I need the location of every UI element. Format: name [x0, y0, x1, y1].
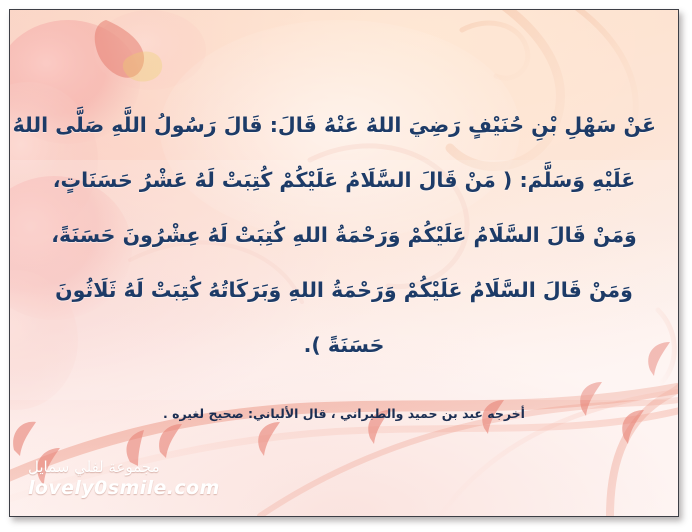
hadith-text-block: عَنْ سَهْلِ بْنِ حُنَيْفٍ رَضِيَ اللهُ ع… — [32, 98, 656, 373]
image-card-frame: عَنْ سَهْلِ بْنِ حُنَيْفٍ رَضِيَ اللهُ ع… — [0, 0, 692, 532]
hadith-line-4: وَمَنْ قَالَ السَّلَامُ عَلَيْكُمْ وَرَح… — [32, 263, 656, 318]
hadith-line-5: حَسَنَةً ). — [32, 318, 656, 373]
watermark-arabic-label: مجموعة لفلي سمايل — [28, 457, 220, 477]
hadith-line-3: وَمَنْ قَالَ السَّلَامُ عَلَيْكُمْ وَرَح… — [32, 208, 656, 263]
hadith-line-2: عَلَيْهِ وَسَلَّمَ: ( مَنْ قَالَ السَّلَ… — [32, 153, 656, 208]
card-content: عَنْ سَهْلِ بْنِ حُنَيْفٍ رَضِيَ اللهُ ع… — [10, 10, 678, 516]
hadith-attribution: أخرجه عبد بن حميد والطبراني ، قال الألبا… — [10, 406, 678, 421]
watermark-site-label: lovely0smile.com — [28, 477, 220, 500]
watermark: مجموعة لفلي سمايل lovely0smile.com — [28, 457, 220, 500]
image-card-border: عَنْ سَهْلِ بْنِ حُنَيْفٍ رَضِيَ اللهُ ع… — [9, 9, 679, 517]
hadith-line-1: عَنْ سَهْلِ بْنِ حُنَيْفٍ رَضِيَ اللهُ ع… — [32, 98, 656, 153]
